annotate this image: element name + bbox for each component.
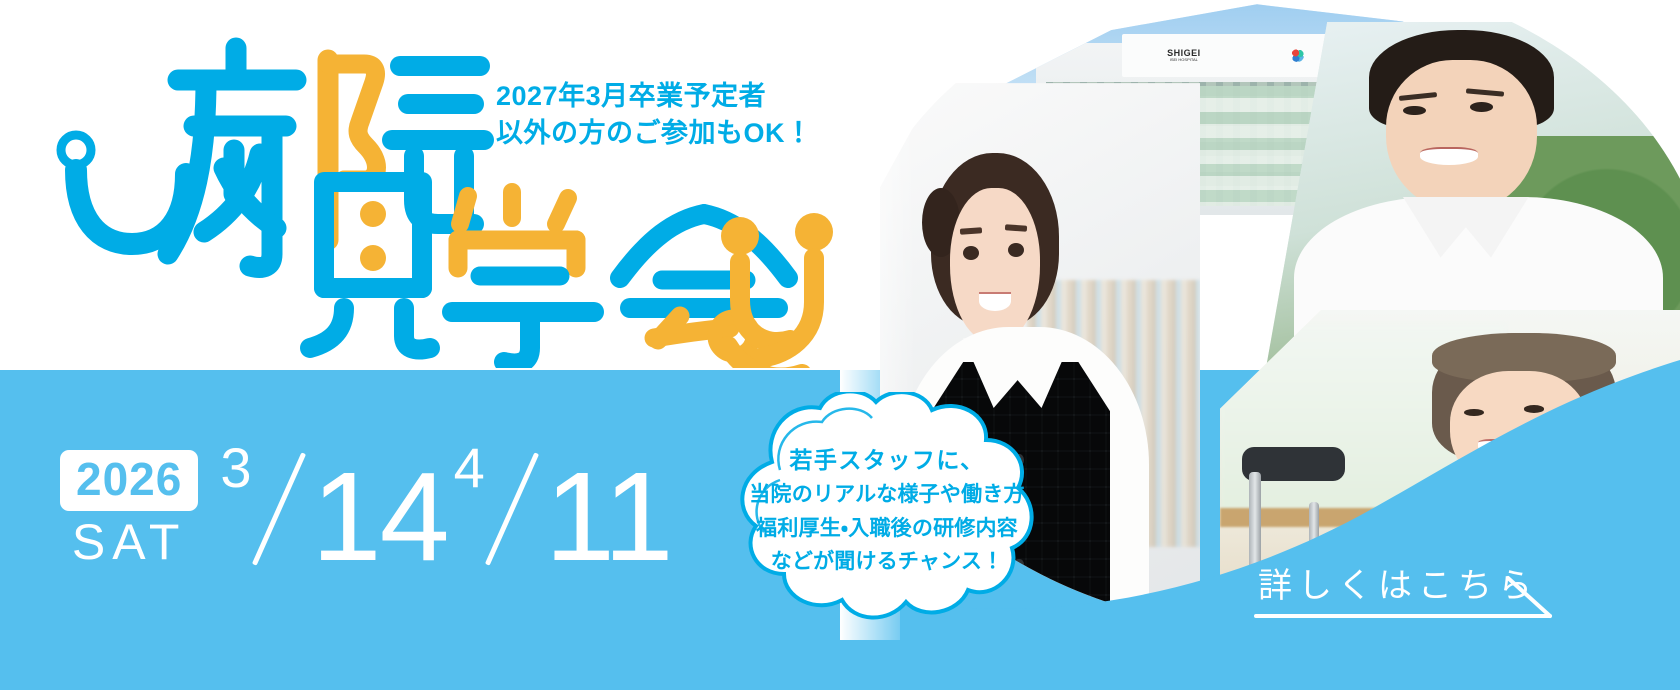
eye-right xyxy=(1470,102,1493,112)
kanji-kai xyxy=(620,214,788,340)
arrow-right-icon xyxy=(1250,556,1580,626)
bubble-line-3: 福利厚生・入職後の研修内容 xyxy=(756,512,1018,545)
face xyxy=(950,188,1040,345)
building-sign-sub: ISEI HOSPITAL xyxy=(1167,58,1201,62)
eye-right xyxy=(1008,243,1024,257)
kanji-byou xyxy=(168,48,296,268)
event-dates: 2026 SAT 3 14 4 11 xyxy=(60,440,678,570)
building-sign-text: SHIGEI ISEI HOSPITAL xyxy=(1167,49,1201,62)
day-1: 14 xyxy=(312,464,448,570)
day-2: 11 xyxy=(545,464,672,570)
byoin-kengakukai-logotype xyxy=(28,18,868,368)
year-and-weekday: 2026 SAT xyxy=(60,450,198,570)
smiley-stethoscope-icon xyxy=(721,213,833,368)
speech-bubble: 若手スタッフに、 当院のリアルな様子や働き方 福利厚生・入職後の研修内容 などが… xyxy=(712,392,1062,622)
face xyxy=(1386,60,1537,212)
details-link[interactable]: 詳しくはこちら xyxy=(1250,556,1580,626)
title-area: 2027年3月卒業予定者 以外の方のご参加もOK！ xyxy=(0,0,880,370)
hospital-tour-banner: SHIGEI ISEI HOSPITAL xyxy=(0,0,1680,690)
bubble-line-2: 当院のリアルな様子や働き方 xyxy=(749,478,1024,511)
building-sign: SHIGEI ISEI HOSPITAL xyxy=(1122,34,1349,77)
eye-left xyxy=(963,246,979,260)
subtitle-line-1: 2027年3月卒業予定者 xyxy=(496,81,766,111)
kanji-ken-dot-upper xyxy=(360,201,386,227)
bubble-line-1: 若手スタッフに、 xyxy=(789,442,984,478)
subtitle: 2027年3月卒業予定者 以外の方のご参加もOK！ xyxy=(496,78,813,153)
weekday-label: SAT xyxy=(72,515,187,570)
bubble-line-4: などが聞けるチャンス！ xyxy=(771,545,1004,578)
subtitle-line-2: 以外の方のご参加もOK！ xyxy=(496,118,813,148)
hospital-logo-icon xyxy=(1291,49,1304,62)
year-badge: 2026 xyxy=(60,450,198,511)
date-entry-1: 3 14 xyxy=(220,440,447,570)
speech-bubble-text: 若手スタッフに、 当院のリアルな様子や働き方 福利厚生・入職後の研修内容 などが… xyxy=(712,392,1062,622)
date-slash-2 xyxy=(475,442,549,570)
kanji-ken-dot-lower xyxy=(360,245,386,271)
date-entry-2: 4 11 xyxy=(454,440,672,570)
mouth xyxy=(1420,147,1479,164)
date-slash-1 xyxy=(242,442,316,570)
